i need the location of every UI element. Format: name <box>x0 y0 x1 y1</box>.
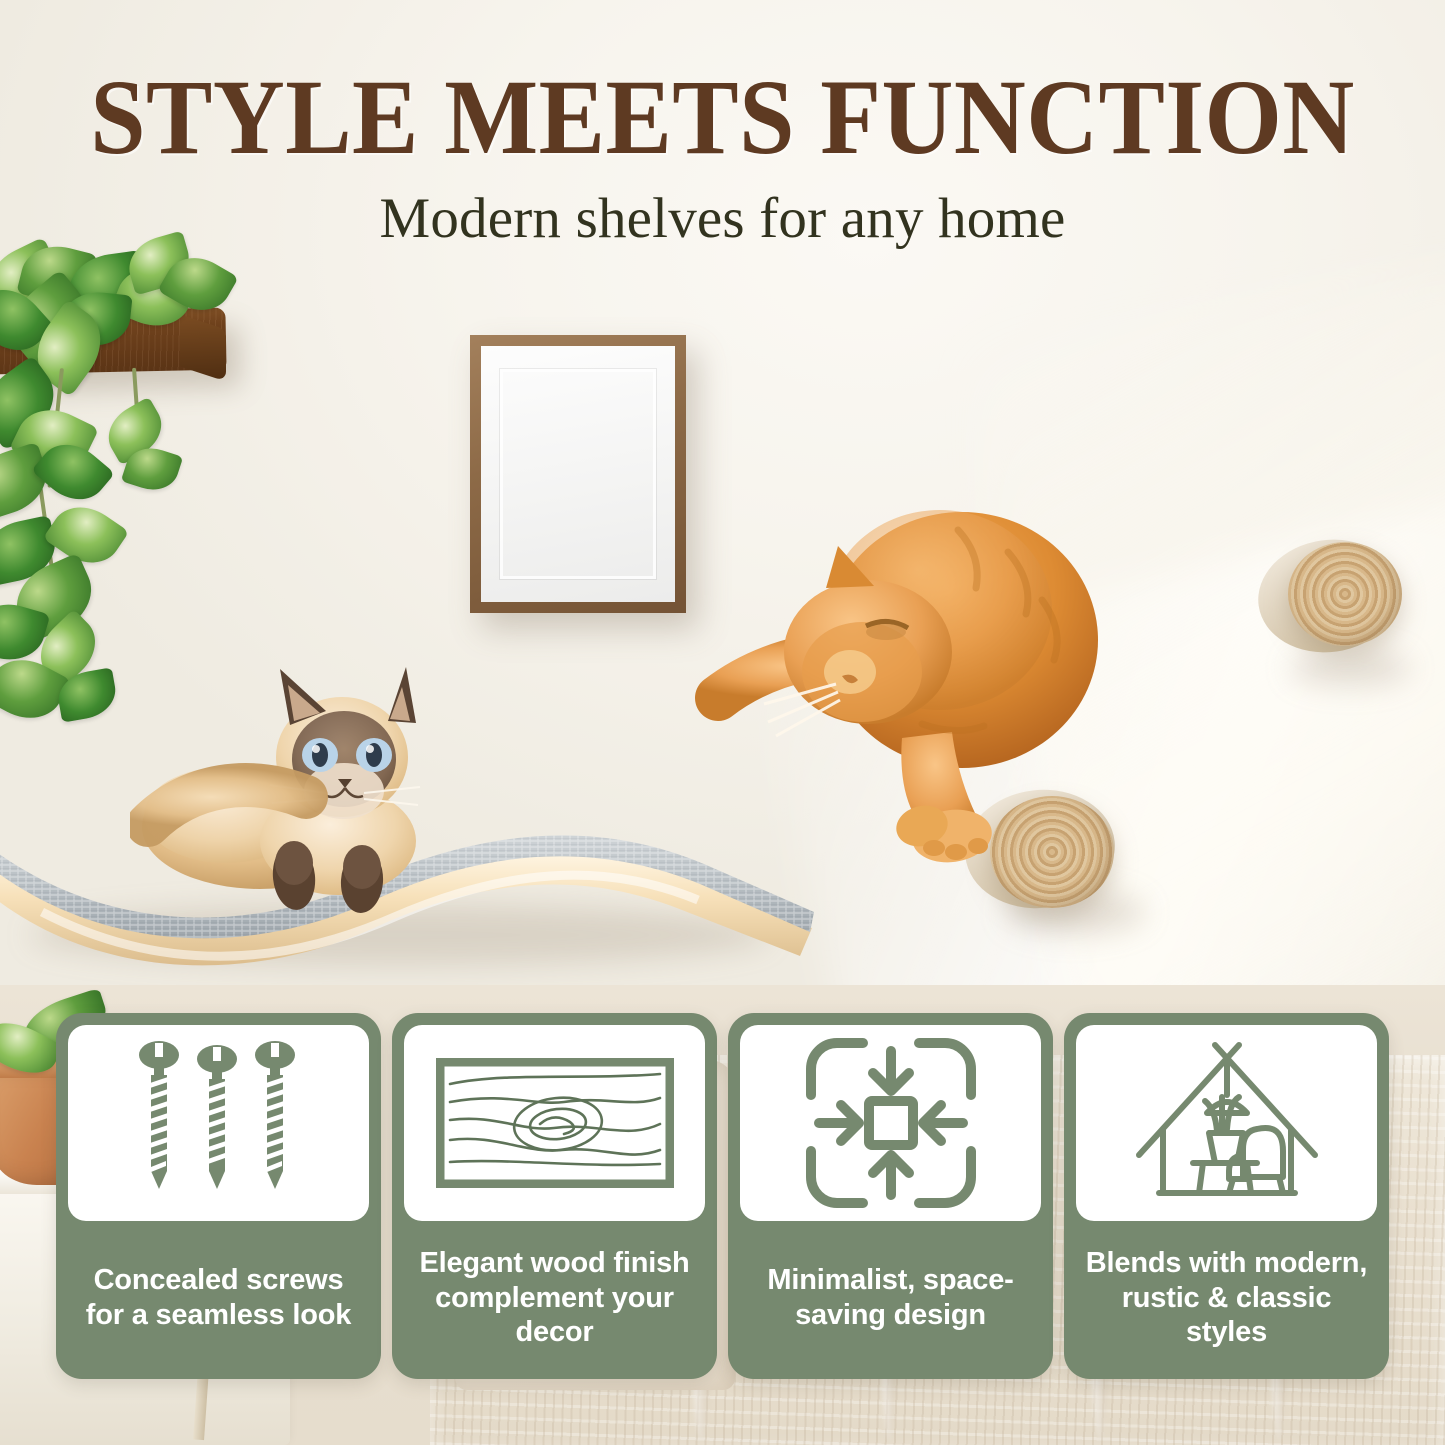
house-interior-icon <box>1129 1037 1325 1209</box>
feature-card-label: Concealed screws for a seamless look <box>68 1221 369 1379</box>
icon-panel <box>68 1025 369 1221</box>
feature-card-label: Minimalist, space-saving design <box>740 1221 1041 1379</box>
feature-card-concealed-screws[interactable]: Concealed screws for a seamless look <box>56 1013 381 1379</box>
feature-card-label: Elegant wood finish complement your deco… <box>404 1221 705 1379</box>
feature-card-style-blend[interactable]: Blends with modern, rustic & classic sty… <box>1064 1013 1389 1379</box>
orange-tabby-cat <box>690 460 1210 880</box>
page-title: STYLE MEETS FUNCTION <box>51 64 1395 173</box>
feature-card-space-saving[interactable]: Minimalist, space-saving design <box>728 1013 1053 1379</box>
picture-frame-inner-border <box>499 368 657 580</box>
icon-panel <box>740 1025 1041 1221</box>
feature-card-label: Blends with modern, rustic & classic sty… <box>1076 1221 1377 1379</box>
sisal-step-upper-rope <box>1288 542 1402 646</box>
picture-frame-mat <box>481 346 675 602</box>
siamese-cat <box>130 655 510 925</box>
icon-panel <box>1076 1025 1377 1221</box>
screws-icon <box>131 1041 307 1205</box>
space-saving-compress-icon <box>803 1035 979 1211</box>
wood-grain-icon <box>436 1058 674 1188</box>
product-infographic: STYLE MEETS FUNCTION Modern shelves for … <box>0 0 1445 1445</box>
feature-card-row: Concealed screws for a seamless look <box>56 1013 1389 1379</box>
icon-panel <box>404 1025 705 1221</box>
picture-frame <box>470 335 686 613</box>
sisal-step-upper-shadow <box>1290 650 1410 686</box>
page-subtitle: Modern shelves for any home <box>0 186 1445 251</box>
feature-card-wood-finish[interactable]: Elegant wood finish complement your deco… <box>392 1013 717 1379</box>
